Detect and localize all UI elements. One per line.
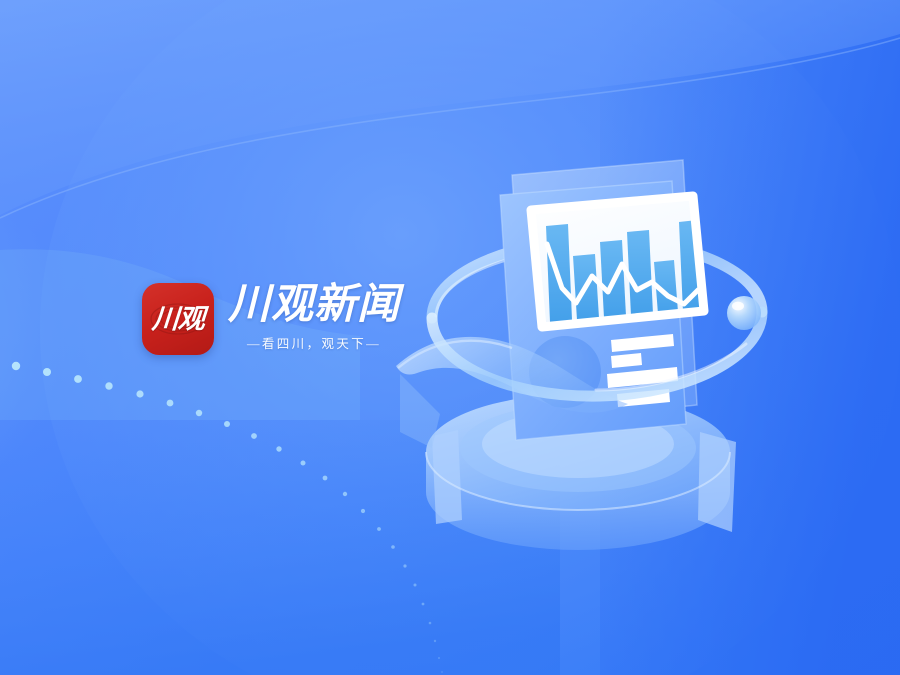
brand-lockup: 川观 川观新闻 —看四川，观天下— [142,283,400,355]
pedestal-gap-right [698,432,736,532]
brand-wordmark: 川观新闻 [228,284,400,328]
splash-canvas: 川观 川观新闻 —看四川，观天下— [0,0,900,675]
brand-tagline: —看四川，观天下— [247,333,381,352]
chart-panel [531,196,704,327]
pedestal-gap-left [432,430,462,524]
app-icon-label: 川观 [151,306,205,333]
chart-bar-4 [627,230,653,316]
illustration-3d-data-report [0,0,900,675]
app-icon: 川观 [142,283,214,355]
orbit-sphere-highlight [732,302,744,311]
wordmark-block: 川观新闻 —看四川，观天下— [228,284,400,354]
orbit-sphere-node [727,296,761,330]
